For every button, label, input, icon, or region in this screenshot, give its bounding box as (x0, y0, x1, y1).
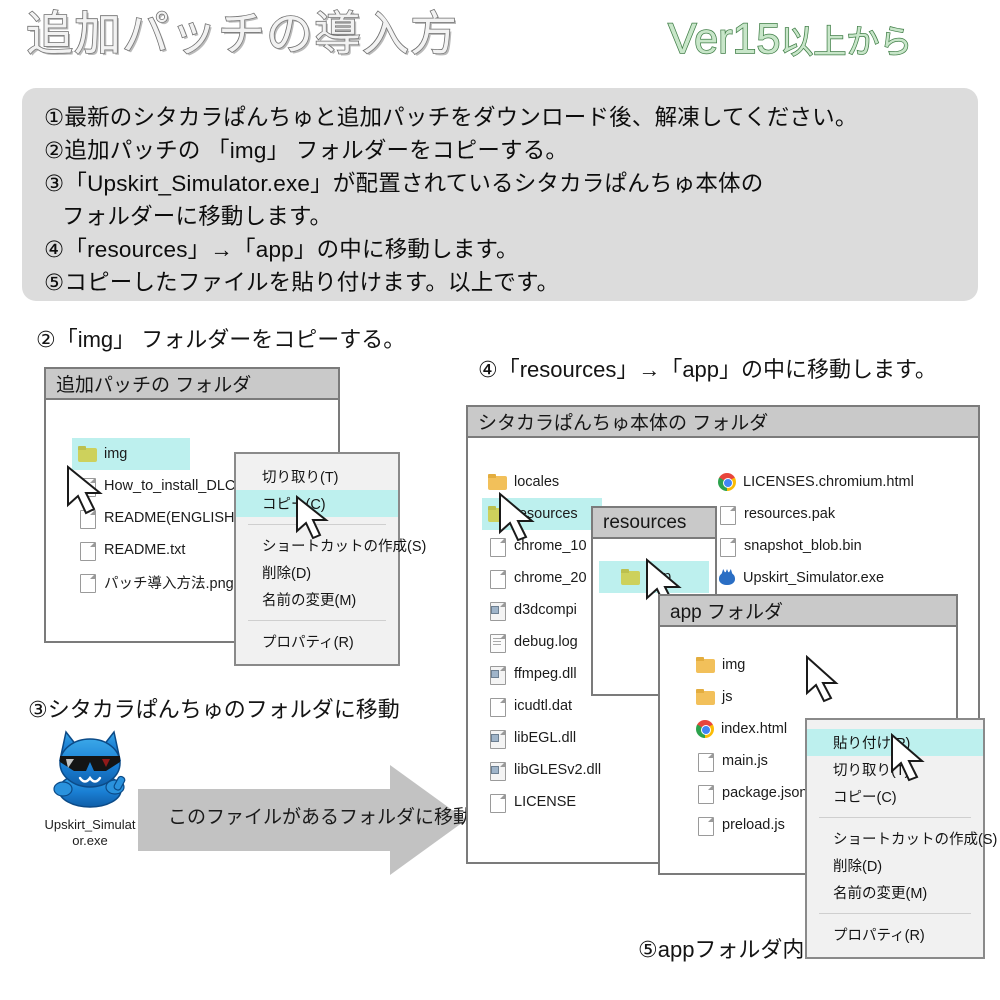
desktop-exe-label: Upskirt_Simulat or.exe (36, 817, 144, 850)
file-name: app (647, 569, 671, 585)
caption-step3: ③シタカラぱんちゅのフォルダに移動 (28, 692, 400, 724)
list-item[interactable]: img (72, 438, 190, 470)
file-icon (696, 753, 715, 770)
menu-item-delete[interactable]: 削除(D) (807, 852, 983, 879)
menu-item-cut[interactable]: 切り取り(T) (236, 463, 398, 490)
file-icon (696, 817, 715, 834)
file-icon (78, 510, 97, 527)
folder-green-icon (621, 569, 640, 586)
menu-item-properties[interactable]: プロパティ(R) (236, 628, 398, 655)
upskirt-simulator-character-icon (44, 726, 136, 808)
chrome-icon (696, 720, 714, 738)
caption-step2: ②「img」 フォルダーをコピーする。 (36, 322, 405, 354)
file-name: パッチ導入方法.png (104, 572, 234, 593)
file-name: README.txt (104, 542, 185, 558)
menu-item-properties[interactable]: プロパティ(R) (807, 921, 983, 948)
main-folder-title: シタカラぱんちゅ本体の フォルダ (478, 408, 768, 435)
list-item[interactable]: libGLESv2.dll (482, 754, 662, 786)
instruction-line: ④「resources」→「app」の中に移動します。 (44, 232, 519, 264)
list-item[interactable]: LICENSES.chromium.html (712, 466, 962, 498)
menu-separator (819, 913, 971, 914)
menu-item-copy[interactable]: コピー(C) (807, 783, 983, 810)
exe-label-line1: Upskirt_Simulat (36, 817, 144, 833)
folder-icon (488, 474, 507, 491)
list-item[interactable]: resources.pak (712, 498, 962, 530)
file-icon (78, 574, 97, 591)
resources-filelist[interactable]: app (593, 539, 715, 593)
file-name: LICENSES.chromium.html (743, 474, 914, 490)
menu-item-delete[interactable]: 削除(D) (236, 559, 398, 586)
exe-label-line2: or.exe (36, 833, 144, 849)
menu-item-rename[interactable]: 名前の変更(M) (807, 879, 983, 906)
dll-file-icon (488, 762, 507, 779)
file-name: js (722, 689, 732, 705)
file-name: package.json (722, 785, 807, 801)
file-name: img (722, 657, 745, 673)
main-folder-titlebar: シタカラぱんちゅ本体の フォルダ (468, 407, 978, 438)
chrome-icon (718, 473, 736, 491)
file-name: resources.pak (744, 506, 835, 522)
file-name: Upskirt_Simulator.exe (743, 570, 884, 586)
version-badge: Ver15以上から (668, 16, 912, 63)
file-name: chrome_10 (514, 538, 587, 554)
file-name: libGLESv2.dll (514, 762, 601, 778)
list-item[interactable]: app (599, 561, 709, 593)
file-name: main.js (722, 753, 768, 769)
menu-item-paste[interactable]: 貼り付け(P) (807, 729, 983, 756)
menu-separator (248, 620, 386, 621)
resources-title: resources (603, 512, 686, 534)
menu-separator (248, 524, 386, 525)
file-name: preload.js (722, 817, 785, 833)
file-name: debug.log (514, 634, 578, 650)
instructions-panel: ①最新のシタカラぱんちゅと追加パッチをダウンロード後、解凍してください。 ②追加… (22, 88, 978, 301)
file-icon (488, 698, 507, 715)
file-name: snapshot_blob.bin (744, 538, 862, 554)
file-icon (696, 785, 715, 802)
app-context-menu[interactable]: 貼り付け(P) 切り取り(T) コピー(C) ショートカットの作成(S) 削除(… (805, 718, 985, 959)
folder-icon (696, 689, 715, 706)
list-item[interactable]: LICENSE (482, 786, 662, 818)
patch-context-menu[interactable]: 切り取り(T) コピー(C) ショートカットの作成(S) 削除(D) 名前の変更… (234, 452, 400, 666)
page-title: 追加パッチの導入方 (26, 8, 458, 60)
file-name: d3dcompi (514, 602, 577, 618)
app-folder-title: app フォルダ (670, 597, 783, 624)
resources-titlebar: resources (593, 508, 715, 539)
menu-separator (819, 817, 971, 818)
patch-folder-titlebar: 追加パッチの フォルダ (46, 369, 338, 400)
app-folder-titlebar: app フォルダ (660, 596, 956, 627)
menu-item-create-shortcut[interactable]: ショートカットの作成(S) (236, 532, 398, 559)
dll-file-icon (488, 730, 507, 747)
file-icon (488, 794, 507, 811)
file-name: libEGL.dll (514, 730, 576, 746)
file-name: LICENSE (514, 794, 576, 810)
folder-green-icon (488, 506, 507, 523)
caption-step4: ④「resources」→「app」の中に移動します。 (478, 352, 937, 384)
file-name: locales (514, 474, 559, 490)
list-item[interactable]: locales (482, 466, 662, 498)
folder-icon (696, 657, 715, 674)
version-suffix: 以上から (780, 23, 912, 60)
desktop-exe-icon[interactable]: Upskirt_Simulat or.exe (36, 726, 144, 850)
dll-file-icon (488, 666, 507, 683)
instruction-line: ②追加パッチの 「img」 フォルダーをコピーする。 (44, 133, 568, 165)
file-icon (78, 478, 97, 495)
patch-folder-title: 追加パッチの フォルダ (56, 370, 251, 397)
version-main: Ver15 (668, 15, 780, 63)
file-name: chrome_20 (514, 570, 587, 586)
file-icon (718, 538, 737, 555)
main-right-column[interactable]: LICENSES.chromium.html resources.pak sna… (712, 466, 962, 594)
list-item[interactable]: libEGL.dll (482, 722, 662, 754)
menu-item-create-shortcut[interactable]: ショートカットの作成(S) (807, 825, 983, 852)
log-file-icon (488, 634, 507, 651)
file-icon (78, 542, 97, 559)
list-item[interactable]: Upskirt_Simulator.exe (712, 562, 962, 594)
exe-icon (718, 569, 736, 587)
list-item[interactable]: resources (482, 498, 602, 530)
instruction-line: ①最新のシタカラぱんちゅと追加パッチをダウンロード後、解凍してください。 (44, 100, 858, 132)
list-item[interactable]: snapshot_blob.bin (712, 530, 962, 562)
menu-item-rename[interactable]: 名前の変更(M) (236, 586, 398, 613)
dll-file-icon (488, 602, 507, 619)
file-icon (488, 538, 507, 555)
menu-item-cut[interactable]: 切り取り(T) (807, 756, 983, 783)
list-item[interactable]: js (690, 681, 956, 713)
file-name: resources (514, 506, 578, 522)
file-name: ffmpeg.dll (514, 666, 577, 682)
arrow-label: このファイルがあるフォルダに移動 (168, 802, 472, 829)
menu-item-copy[interactable]: コピー(C) (236, 490, 398, 517)
file-icon (488, 570, 507, 587)
folder-green-icon (78, 446, 97, 463)
file-name: index.html (721, 721, 787, 737)
instruction-line: ⑤コピーしたファイルを貼り付けます。以上です。 (44, 265, 559, 297)
instruction-line: ③「Upskirt_Simulator.exe」が配置されているシタカラぱんちゅ… (44, 166, 763, 198)
file-icon (718, 506, 737, 523)
file-name: icudtl.dat (514, 698, 572, 714)
instruction-line: フォルダーに移動します。 (62, 199, 332, 231)
file-name: img (104, 446, 127, 462)
list-item[interactable]: img (690, 649, 956, 681)
